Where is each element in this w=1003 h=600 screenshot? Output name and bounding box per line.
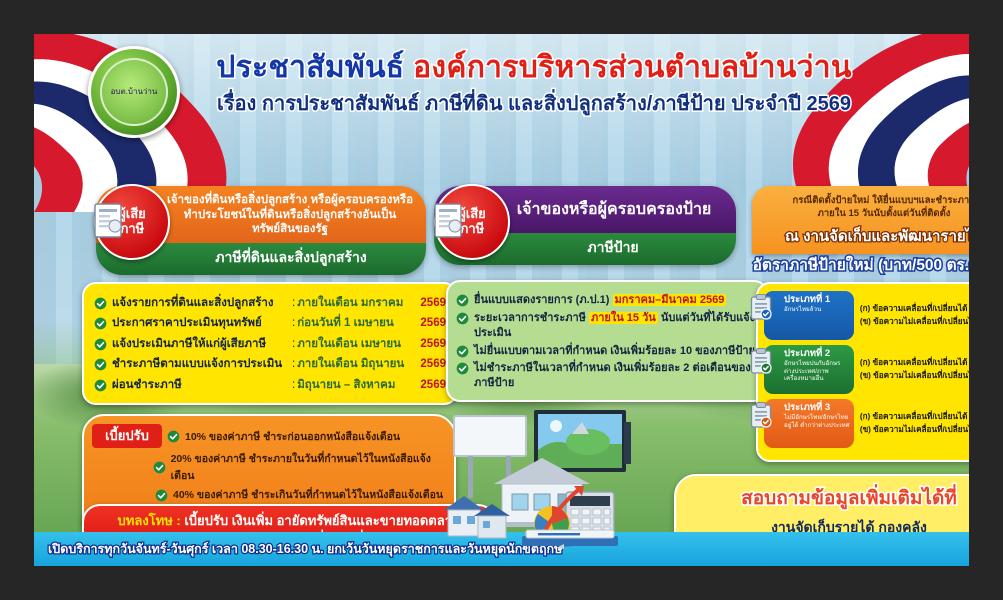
rate-option-text: (ข) ข้อความไม่เคลื่อนที่/เปลี่ยนไม่ได้	[860, 370, 969, 382]
rate-table-header: อัตราภาษีป้ายใหม่ (บาท/500 ตร.ซม.)	[752, 252, 969, 277]
rule-row: ไม่ชำระภาษีในเวลาที่กำหนด เงินเพิ่มร้อยล…	[456, 361, 756, 391]
schedule-label: ชำระภาษีตามแบบแจ้งการประเมิน	[112, 355, 290, 373]
schedule-row: ชำระภาษีตามแบบแจ้งการประเมิน : ภายในเดือ…	[94, 355, 446, 373]
check-icon	[456, 312, 469, 325]
page-title: ประชาสัมพันธ์ องค์การบริหารส่วนตำบลบ้านว…	[184, 52, 884, 84]
new-sign-notice: กรณีติดตั้งป้ายใหม่ ให้ยื่นแบบฯและชำระภา…	[752, 186, 969, 254]
rule-row: ไม่ยื่นแบบตามเวลาที่กำหนด เงินเพิ่มร้อยล…	[456, 344, 756, 359]
rate-category-subtitle: อักษรไทยล้วน	[784, 306, 850, 313]
contact-heading: สอบถามข้อมูลเพิ่มเติมได้ที่	[686, 483, 969, 513]
check-icon	[94, 338, 107, 351]
check-icon	[167, 430, 180, 443]
document-icon-land	[92, 202, 126, 240]
schedule-when: ภายในเดือน มกราคม	[297, 294, 416, 312]
schedule-colon: :	[292, 358, 295, 370]
new-sign-notice-line3: ณ งานจัดเก็บและพัฒนารายได้	[760, 224, 969, 248]
rule-text: ระยะเวลาการชำระภาษี ภายใน 15 วัน นับแต่ว…	[474, 311, 756, 341]
schedule-colon: :	[292, 317, 295, 329]
schedule-colon: :	[292, 338, 295, 350]
clipboard-icon	[750, 348, 772, 374]
check-icon	[153, 461, 166, 474]
check-icon	[94, 358, 107, 371]
rate-category-2: ประเภทที่ 2 อักษรไทยปนกับอักษรต่างประเทศ…	[764, 345, 854, 394]
new-sign-notice-line1: กรณีติดตั้งป้ายใหม่ ให้ยื่นแบบฯและชำระภา…	[760, 194, 969, 207]
schedule-row: ผ่อนชำระภาษี : มิถุนายน – สิงหาคม 2569	[94, 376, 446, 394]
rule-pre: ยื่นแบบแสดงรายการ (ภ.ป.1)	[474, 294, 613, 306]
penalty-tag-fine: เบี้ยปรับ	[92, 424, 162, 448]
check-icon	[456, 345, 469, 358]
rule-highlight: ภายใน 15 วัน	[589, 312, 658, 324]
penalty-row: เบี้ยปรับ 10% ของค่าภาษี ชำระก่อนออกหนัง…	[92, 424, 444, 448]
punishment-label: บทลงโทษ :	[118, 513, 181, 528]
schedule-year: 2569	[416, 358, 446, 370]
schedule-row: แจ้งประเมินภาษีให้แก่ผู้เสียภาษี : ภายใน…	[94, 335, 446, 353]
check-icon	[155, 489, 168, 502]
check-icon	[456, 294, 469, 307]
header-title-block: ประชาสัมพันธ์ องค์การบริหารส่วนตำบลบ้านว…	[184, 52, 884, 119]
penalty-text: 10% ของค่าภาษี ชำระก่อนออกหนังสือแจ้งเตื…	[185, 428, 400, 445]
rate-option-text: (ข) ข้อความไม่เคลื่อนที่/เปลี่ยนไม่ได้	[860, 424, 969, 436]
schedule-label: ประกาศราคาประเมินทุนทรัพย์	[112, 314, 290, 332]
schedule-when: ภายในเดือน มิถุนายน	[297, 355, 416, 373]
rate-options: (ก) ข้อความเคลื่อนที่/เปลี่ยนได้ (ข) ข้อ…	[854, 357, 969, 382]
organization-seal: อบต.บ้านว่าน	[88, 46, 180, 138]
poster-canvas: อบต.บ้านว่าน ประชาสัมพันธ์ องค์การบริหาร…	[34, 34, 969, 566]
sign-tax-rate-table: ประเภทที่ 1 อักษรไทยล้วน (ก) ข้อความเคลื…	[756, 282, 969, 462]
schedule-row: แจ้งรายการที่ดินและสิ่งปลูกสร้าง : ภายใน…	[94, 294, 446, 312]
check-icon	[94, 297, 107, 310]
rate-option-text: (ก) ข้อความเคลื่อนที่/เปลี่ยนได้	[860, 357, 969, 369]
center-illustration	[438, 406, 703, 561]
page-title-part1: ประชาสัมพันธ์	[216, 51, 413, 84]
schedule-year: 2569	[416, 317, 446, 329]
rule-row: ยื่นแบบแสดงรายการ (ภ.ป.1) มกราคม–มีนาคม …	[456, 293, 756, 308]
schedule-label: แจ้งรายการที่ดินและสิ่งปลูกสร้าง	[112, 294, 290, 312]
rate-table-row: ประเภทที่ 3 ไม่มีอักษรไทย/อักษรไทยอยู่ใต…	[764, 399, 969, 448]
rate-category-subtitle: ไม่มีอักษรไทย/อักษรไทยอยู่ใต้ ต่ำกว่าต่า…	[784, 414, 850, 429]
rate-option-text: (ก) ข้อความเคลื่อนที่/เปลี่ยนได้	[860, 303, 969, 315]
land-tax-schedule-card: แจ้งรายการที่ดินและสิ่งปลูกสร้าง : ภายใน…	[82, 282, 458, 405]
punishment-line1: บทลงโทษ : เบี้ยปรับ เงินเพิ่ม อายัดทรัพย…	[94, 512, 484, 530]
punishment-text: เบี้ยปรับ เงินเพิ่ม อายัดทรัพย์สินและขาย…	[181, 513, 461, 528]
penalty-text: 40% ของค่าภาษี ชำระเกินวันที่กำหนดไว้ในห…	[173, 486, 443, 503]
schedule-colon: :	[292, 297, 295, 309]
rate-option-text: (ก) ข้อความเคลื่อนที่/เปลี่ยนได้	[860, 411, 969, 423]
schedule-label: ผ่อนชำระภาษี	[112, 376, 290, 394]
calculator-icon	[566, 492, 614, 536]
schedule-colon: :	[292, 379, 295, 391]
check-icon	[94, 379, 107, 392]
rule-highlight: มกราคม–มีนาคม 2569	[613, 294, 727, 306]
clipboard-icon	[750, 294, 772, 320]
schedule-label: แจ้งประเมินภาษีให้แก่ผู้เสียภาษี	[112, 335, 290, 353]
check-icon	[456, 362, 469, 375]
rate-category-title: ประเภทที่ 2	[784, 349, 850, 359]
seal-inner-label: อบต.บ้านว่าน	[100, 58, 168, 126]
rate-options: (ก) ข้อความเคลื่อนที่/เปลี่ยนได้ (ข) ข้อ…	[854, 303, 969, 328]
schedule-year: 2569	[416, 297, 446, 309]
rule-text: ไม่ยื่นแบบตามเวลาที่กำหนด เงินเพิ่มร้อยล…	[474, 344, 755, 359]
house-small-group	[444, 496, 510, 538]
penalty-row: 20% ของค่าภาษี ชำระภายในวันที่กำหนดไว้ใน…	[92, 450, 444, 484]
rate-category-1: ประเภทที่ 1 อักษรไทยล้วน	[764, 291, 854, 340]
poster-frame: อบต.บ้านว่าน ประชาสัมพันธ์ องค์การบริหาร…	[0, 0, 1003, 600]
clipboard-icon	[750, 402, 772, 428]
schedule-when: มิถุนายน – สิงหาคม	[297, 376, 416, 394]
rate-table-row: ประเภทที่ 1 อักษรไทยล้วน (ก) ข้อความเคลื…	[764, 291, 969, 340]
rate-option-text: (ข) ข้อความไม่เคลื่อนที่/เปลี่ยนไม่ได้	[860, 316, 969, 328]
rate-category-subtitle: อักษรไทยปนกับอักษรต่างประเทศ/ภาพ เครื่อง…	[784, 360, 850, 382]
rate-options: (ก) ข้อความเคลื่อนที่/เปลี่ยนได้ (ข) ข้อ…	[854, 411, 969, 436]
rate-category-3: ประเภทที่ 3 ไม่มีอักษรไทย/อักษรไทยอยู่ใต…	[764, 399, 854, 448]
schedule-year: 2569	[416, 379, 446, 391]
new-sign-notice-line2: ภายใน 15 วันนับตั้งแต่วันที่ติดตั้ง	[760, 207, 969, 220]
schedule-row: ประกาศราคาประเมินทุนทรัพย์ : ก่อนวันที่ …	[94, 314, 446, 332]
schedule-year: 2569	[416, 338, 446, 350]
page-subtitle: เรื่อง การประชาสัมพันธ์ ภาษีที่ดิน และสิ…	[184, 87, 884, 119]
check-icon	[94, 317, 107, 330]
schedule-when: ภายในเดือน เมษายน	[297, 335, 416, 353]
sign-tax-rules-card: ยื่นแบบแสดงรายการ (ภ.ป.1) มกราคม–มีนาคม …	[446, 280, 768, 402]
rate-category-title: ประเภทที่ 1	[784, 295, 850, 305]
rule-pre: ระยะเวลาการชำระภาษี	[474, 312, 589, 324]
rate-table-row: ประเภทที่ 2 อักษรไทยปนกับอักษรต่างประเทศ…	[764, 345, 969, 394]
penalty-text: 20% ของค่าภาษี ชำระภายในวันที่กำหนดไว้ใน…	[171, 450, 444, 484]
page-title-part2: องค์การบริหารส่วนตำบลบ้านว่าน	[413, 51, 852, 84]
rule-row: ระยะเวลาการชำระภาษี ภายใน 15 วัน นับแต่ว…	[456, 311, 756, 341]
schedule-when: ก่อนวันที่ 1 เมษายน	[297, 314, 416, 332]
rate-category-title: ประเภทที่ 3	[784, 403, 850, 413]
document-icon-sign	[432, 202, 466, 240]
penalty-row: 40% ของค่าภาษี ชำระเกินวันที่กำหนดไว้ในห…	[92, 486, 444, 503]
rule-text: ไม่ชำระภาษีในเวลาที่กำหนด เงินเพิ่มร้อยล…	[474, 361, 756, 391]
rule-text: ยื่นแบบแสดงรายการ (ภ.ป.1) มกราคม–มีนาคม …	[474, 293, 726, 308]
